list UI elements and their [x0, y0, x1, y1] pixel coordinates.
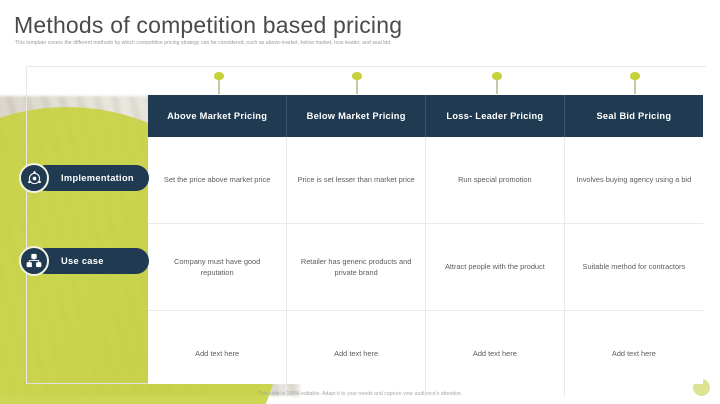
pin-head — [214, 72, 224, 80]
table-cell[interactable]: Company must have good reputation — [148, 224, 287, 311]
row-label-text: Implementation — [33, 165, 149, 191]
table-body: Set the price above market pricePrice is… — [148, 137, 703, 397]
table-column-header[interactable]: Seal Bid Pricing — [564, 95, 703, 137]
table-cell[interactable]: Price is set lesser than market price — [287, 137, 426, 224]
table-cell[interactable]: Retailer has generic products and privat… — [287, 224, 426, 311]
slide-canvas: Methods of competition based pricing Thi… — [0, 0, 720, 404]
pin-stem — [634, 80, 635, 94]
table-cell[interactable]: Add text here — [287, 311, 426, 398]
pricing-methods-table: Above Market PricingBelow Market Pricing… — [148, 95, 703, 397]
pin-head — [352, 72, 362, 80]
pin-stem — [356, 80, 357, 94]
table-head: Above Market PricingBelow Market Pricing… — [148, 95, 703, 137]
row-label-text: Use case — [33, 248, 149, 274]
table-cell[interactable]: Attract people with the product — [426, 224, 565, 311]
pin-marker-icon — [492, 72, 502, 94]
table-row: Set the price above market pricePrice is… — [148, 137, 703, 224]
row-label-implementation[interactable]: Implementation — [19, 163, 49, 193]
table-row: Company must have good reputationRetaile… — [148, 224, 703, 311]
pin-marker-icon — [352, 72, 362, 94]
table-cell[interactable]: Add text here — [148, 311, 287, 398]
page-title: Methods of competition based pricing — [14, 12, 402, 39]
table-cell[interactable]: Involves buying agency using a bid — [564, 137, 703, 224]
table-cell[interactable]: Set the price above market price — [148, 137, 287, 224]
pin-stem — [218, 80, 219, 94]
row-label-use-case[interactable]: Use case — [19, 246, 49, 276]
page-subtitle: This template covers the different metho… — [15, 40, 392, 46]
pin-marker-icon — [214, 72, 224, 94]
table-column-header[interactable]: Above Market Pricing — [148, 95, 287, 137]
table-cell[interactable]: Add text here — [426, 311, 565, 398]
table-cell[interactable]: Add text here — [564, 311, 703, 398]
hierarchy-icon — [19, 246, 49, 276]
table-cell[interactable]: Suitable method for contractors — [564, 224, 703, 311]
target-crosshair-icon — [19, 163, 49, 193]
pin-head — [630, 72, 640, 80]
table-cell[interactable]: Run special promotion — [426, 137, 565, 224]
pin-head — [492, 72, 502, 80]
table-header-row: Above Market PricingBelow Market Pricing… — [148, 95, 703, 137]
table-column-header[interactable]: Below Market Pricing — [287, 95, 426, 137]
pin-marker-icon — [630, 72, 640, 94]
pin-stem — [496, 80, 497, 94]
table-row: Add text hereAdd text hereAdd text hereA… — [148, 311, 703, 398]
table-column-header[interactable]: Loss- Leader Pricing — [426, 95, 565, 137]
